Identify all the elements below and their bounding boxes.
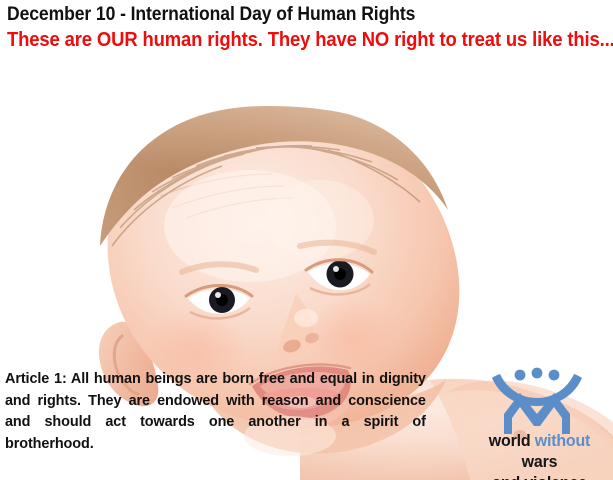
header-block: December 10 - International Day of Human…	[0, 0, 613, 56]
logo-word-wars: wars	[522, 452, 558, 471]
logo-line-two: and violence	[470, 472, 608, 480]
human-rights-day-poster: December 10 - International Day of Human…	[0, 0, 613, 480]
world-without-wars-and-violence-logo[interactable]: world without wars and violence	[466, 362, 613, 476]
logo-wordmark: world without wars and violence	[470, 430, 608, 480]
headline-message: These are OUR human rights. They have NO…	[7, 27, 613, 52]
article-one-text: Article 1: All human beings are born fre…	[5, 368, 426, 477]
logo-word-world: world	[489, 431, 535, 450]
logo-word-without: without	[535, 431, 590, 450]
logo-figures-icon	[484, 362, 590, 434]
headline-date: December 10 - International Day of Human…	[7, 2, 415, 26]
